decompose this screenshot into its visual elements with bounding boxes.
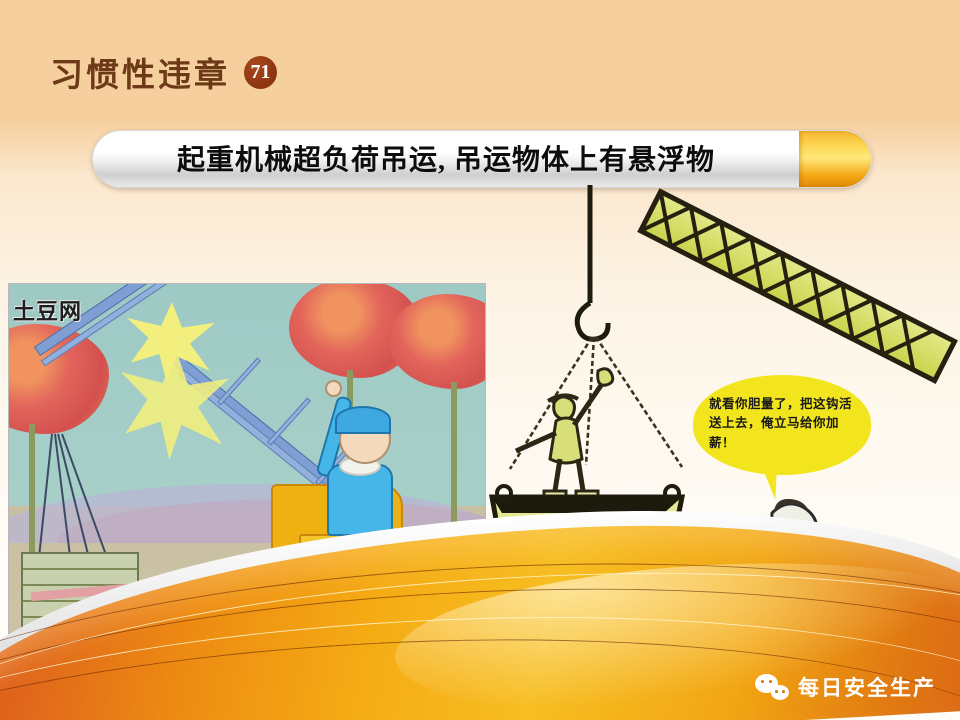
headline-banner: 起重机械超负荷吊运, 吊运物体上有悬浮物 [92, 130, 872, 188]
tree-foliage [389, 294, 486, 389]
slide-canvas: 习惯性违章 71 起重机械超负荷吊运, 吊运物体上有悬浮物 土豆网 [0, 0, 960, 720]
banner-text: 起重机械超负荷吊运, 吊运物体上有悬浮物 [92, 130, 800, 188]
wechat-bubble-small [771, 685, 789, 700]
tudou-watermark: 土豆网 [13, 294, 82, 326]
crane-jib [641, 192, 955, 381]
operator-hand [325, 380, 342, 397]
wechat-dot [782, 690, 785, 693]
sling-chains [510, 337, 682, 469]
wechat-dot [761, 680, 764, 683]
wechat-icon [755, 674, 789, 700]
banner-end-cap [799, 131, 871, 187]
tree-right-b [389, 294, 486, 389]
page-title-text: 习惯性违章 [50, 48, 230, 96]
speech-bubble: 就看你胆量了，把这钩活送上去，俺立马给你加薪！ [693, 375, 871, 475]
page-number-badge: 71 [244, 56, 277, 89]
wechat-label: 每日安全生产 [798, 672, 936, 702]
operator-cap [335, 406, 391, 434]
crane-hook [577, 303, 608, 339]
wechat-footer: 每日安全生产 [755, 672, 936, 702]
wechat-dot [769, 680, 772, 683]
page-title: 习惯性违章 71 [50, 48, 277, 96]
wechat-dot [775, 690, 778, 693]
speech-bubble-text: 就看你胆量了，把这钩活送上去，俺立马给你加薪！ [709, 395, 855, 453]
